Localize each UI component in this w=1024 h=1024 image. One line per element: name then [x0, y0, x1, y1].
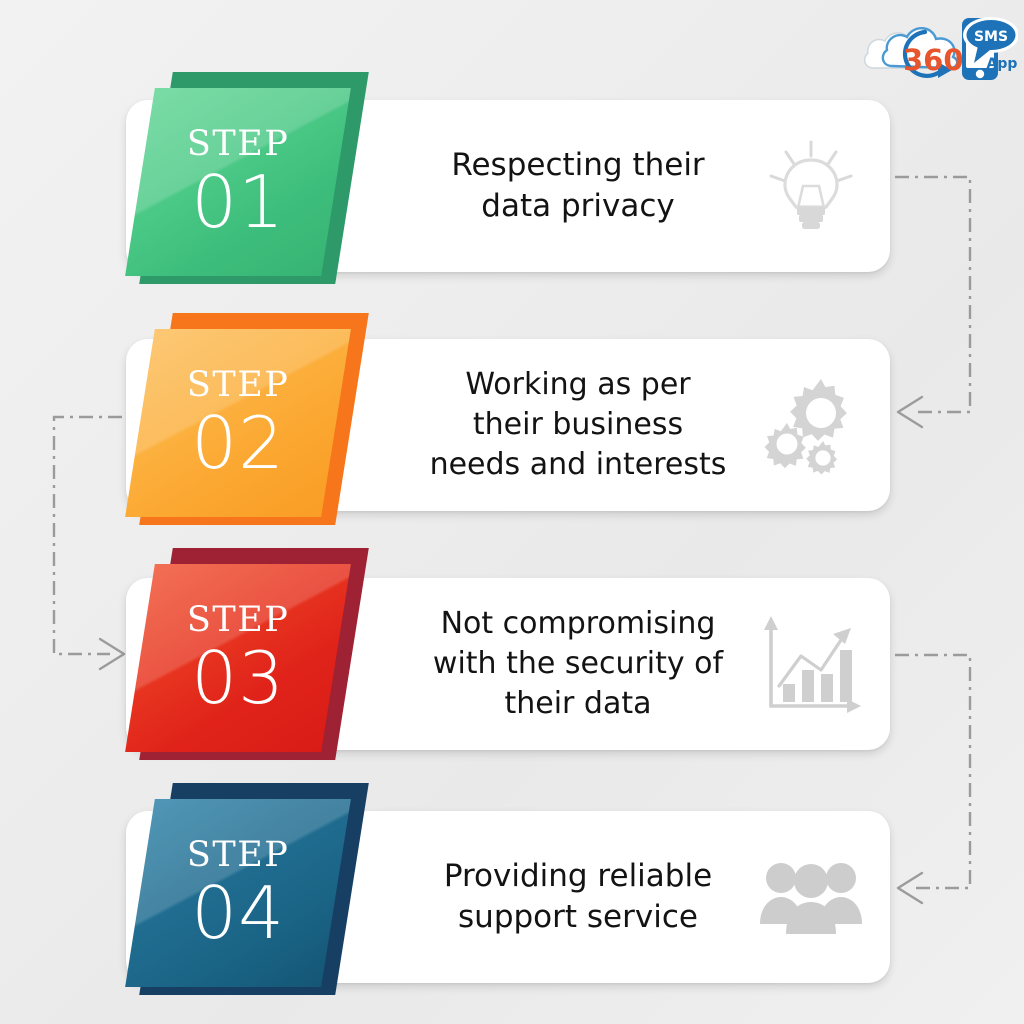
connector-1-2 [895, 177, 970, 412]
step-card-2-text: Working as per their business needs and … [398, 339, 740, 511]
axis-arrow-up-icon [764, 616, 778, 630]
gear-medium [765, 423, 806, 468]
step-card-3-text: Not compromising with the security of th… [398, 578, 740, 750]
bar-chart-icon [756, 609, 866, 719]
step-badge-2[interactable]: STEP 02 [136, 313, 396, 525]
step-badge-4[interactable]: STEP 04 [136, 783, 396, 995]
lightbulb-icon [756, 131, 866, 241]
logo-sms-text: SMS [974, 29, 1008, 45]
arrow-right-icon-1 [100, 639, 124, 669]
people-icon [756, 842, 866, 952]
brand-logo[interactable]: 360 SMS App [862, 8, 1018, 94]
step-badge-4-number: 04 [187, 877, 289, 949]
step-badge-3-number: 03 [187, 642, 289, 714]
step-badge-3-label: STEP [187, 603, 289, 638]
arrow-left-icon-2 [898, 873, 922, 903]
step-badge-2-face: STEP 02 [125, 329, 351, 517]
step-badge-1-number: 01 [187, 166, 289, 238]
step-badge-1-face: STEP 01 [125, 88, 351, 276]
connector-3-4 [895, 655, 970, 888]
step-badge-1[interactable]: STEP 01 [136, 72, 396, 284]
step-badge-4-face: STEP 04 [125, 799, 351, 987]
step-badge-4-label: STEP [187, 838, 289, 873]
logo-app-text: App [987, 56, 1018, 72]
gear-small [806, 441, 837, 475]
gears-icon [756, 370, 866, 480]
step-badge-3-face: STEP 03 [125, 564, 351, 752]
chart-bars [783, 650, 852, 702]
step-badge-3[interactable]: STEP 03 [136, 548, 396, 760]
logo-360-text: 360 [903, 43, 964, 77]
arrow-left-icon-1 [898, 397, 922, 427]
step-badge-2-label: STEP [187, 368, 289, 403]
gear-large [790, 379, 847, 441]
step-card-4-text: Providing reliable support service [398, 811, 740, 983]
infographic-canvas: 360 SMS App [0, 0, 1024, 1024]
step-badge-2-number: 02 [187, 407, 289, 479]
connector-2-3 [54, 417, 122, 654]
step-card-1-text: Respecting their data privacy [398, 100, 740, 272]
trend-arrow-icon [833, 628, 851, 644]
step-badge-1-label: STEP [187, 127, 289, 162]
